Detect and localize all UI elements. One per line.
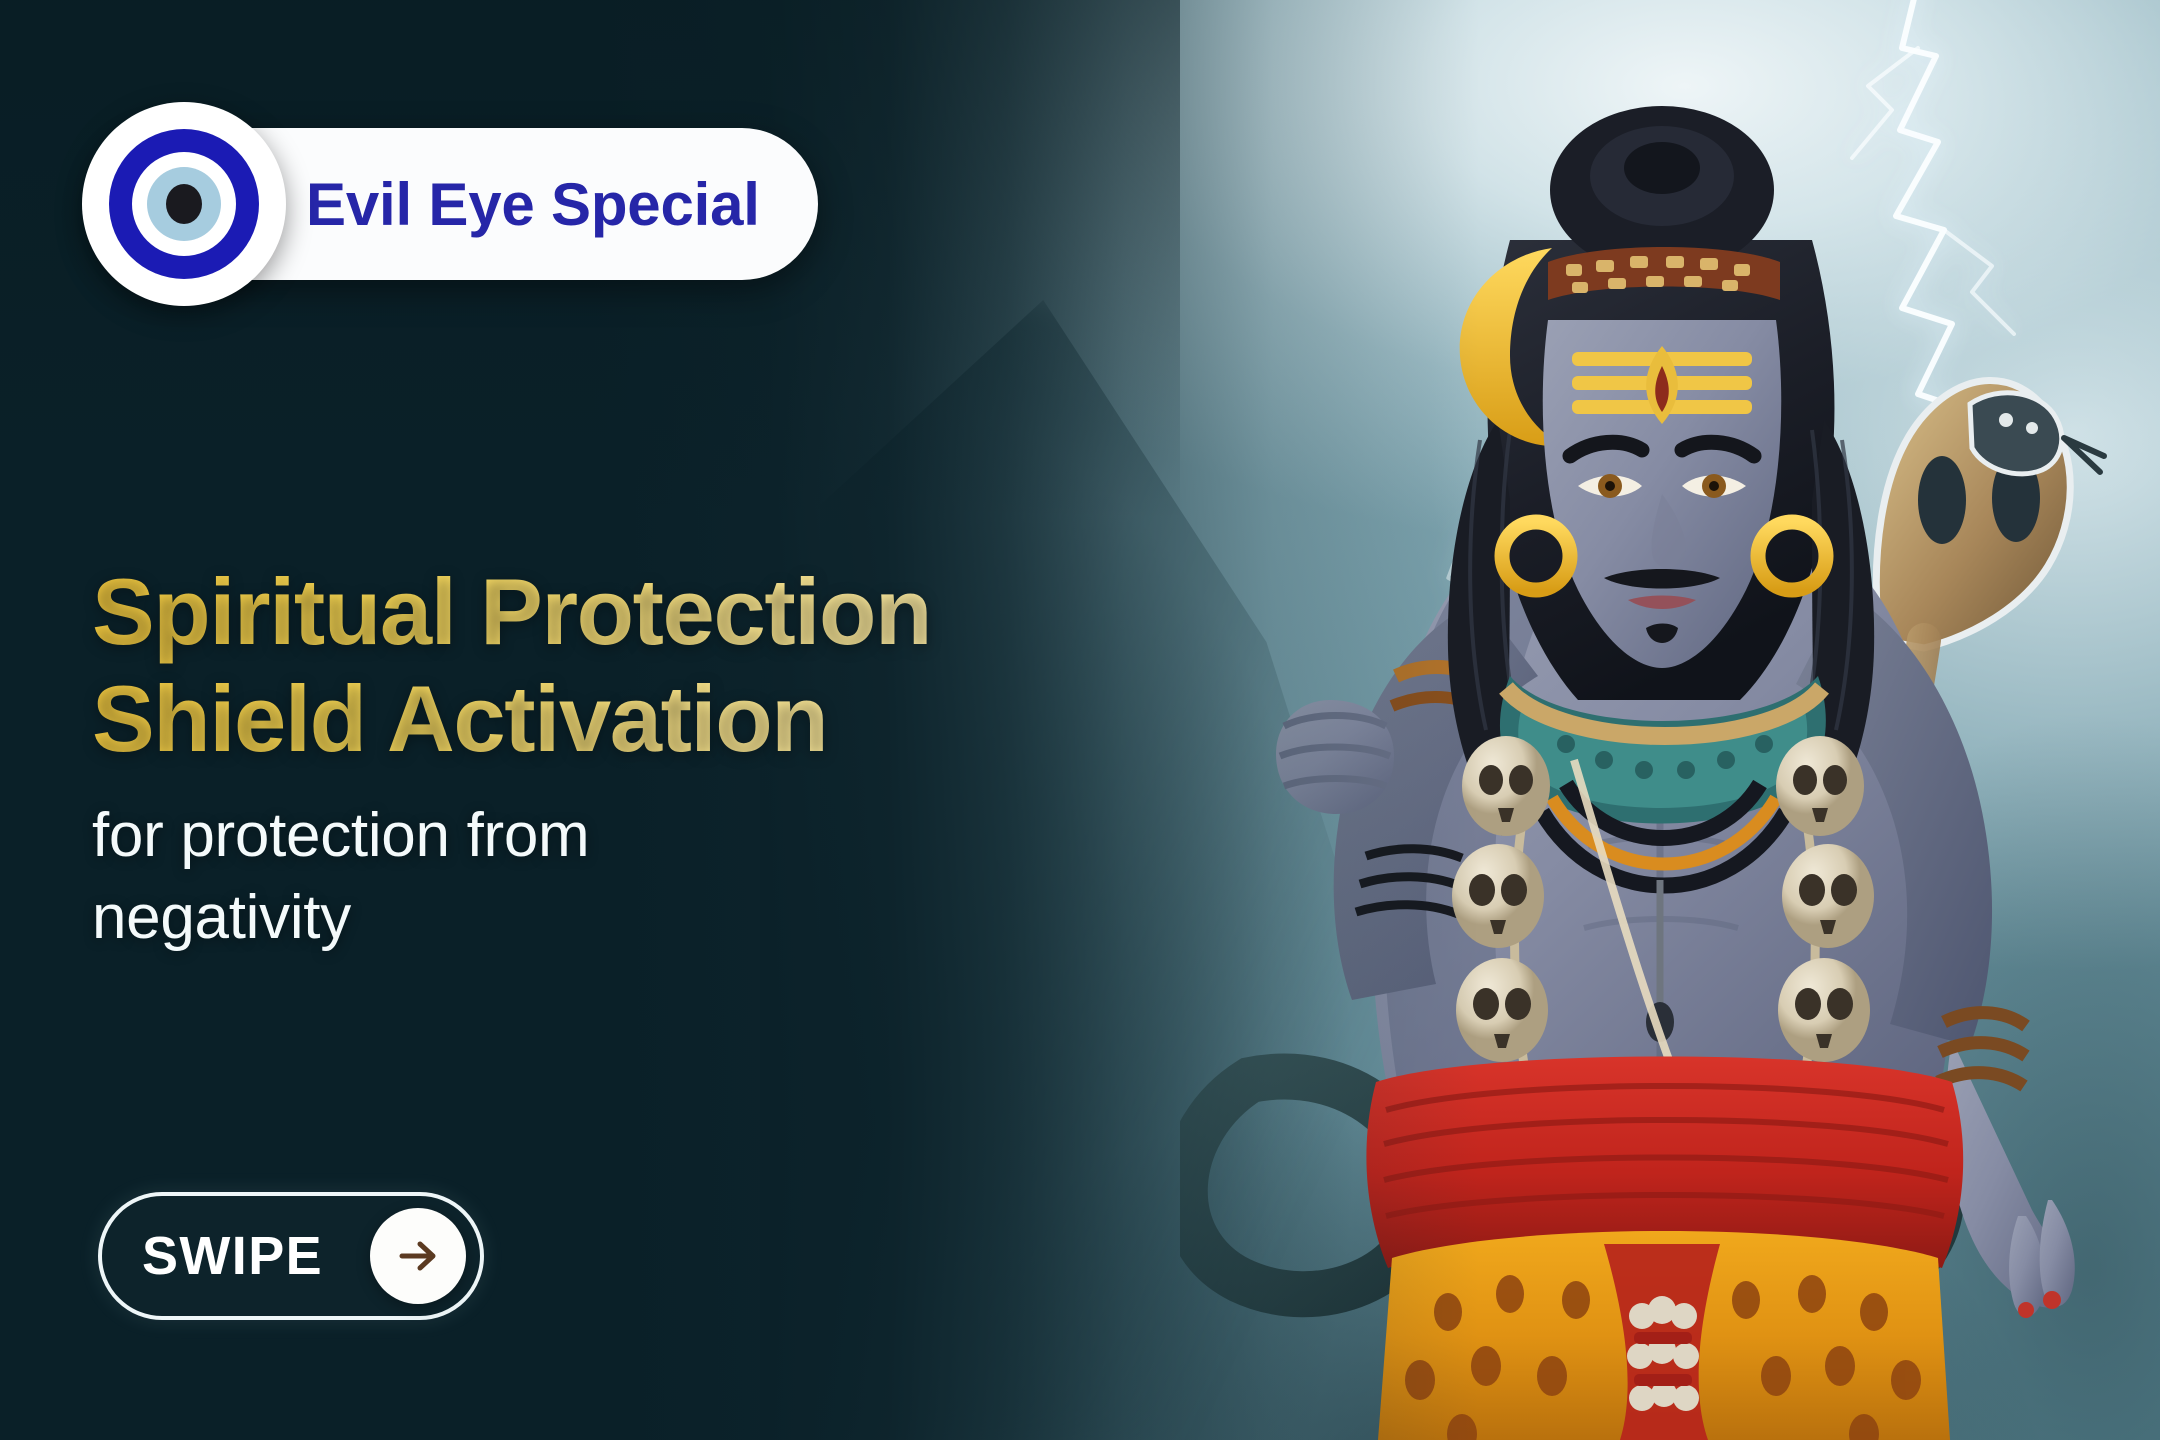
evil-eye-white-ring — [132, 152, 236, 256]
evil-eye-badge[interactable]: Evil Eye Special — [98, 128, 818, 280]
swipe-button[interactable]: SWIPE — [98, 1192, 484, 1320]
slide-content: Evil Eye Special Spiritual Protection Sh… — [0, 0, 1480, 1440]
page-title: Spiritual Protection Shield Activation — [92, 558, 1092, 772]
badge-label: Evil Eye Special — [306, 170, 760, 239]
evil-eye-icon — [82, 102, 286, 306]
badge-pill[interactable]: Evil Eye Special — [98, 128, 818, 280]
subtitle-line-2: negativity — [92, 877, 912, 959]
carousel-slide: Evil Eye Special Spiritual Protection Sh… — [0, 0, 2160, 1440]
subtitle-line-1: for protection from — [92, 795, 912, 877]
subtitle: for protection from negativity — [92, 795, 912, 959]
headline-line-2: Shield Activation — [92, 665, 1092, 772]
evil-eye-blue-ring — [109, 129, 259, 279]
evil-eye-iris — [147, 167, 221, 241]
bead-strand — [1627, 1296, 1699, 1411]
swipe-label: SWIPE — [142, 1225, 323, 1287]
arrow-right-icon — [392, 1230, 444, 1282]
swipe-arrow-circle[interactable] — [370, 1208, 466, 1304]
headline-line-1: Spiritual Protection — [92, 558, 1092, 665]
tripundra-tilak-icon — [1572, 346, 1752, 424]
evil-eye-pupil — [166, 184, 202, 224]
